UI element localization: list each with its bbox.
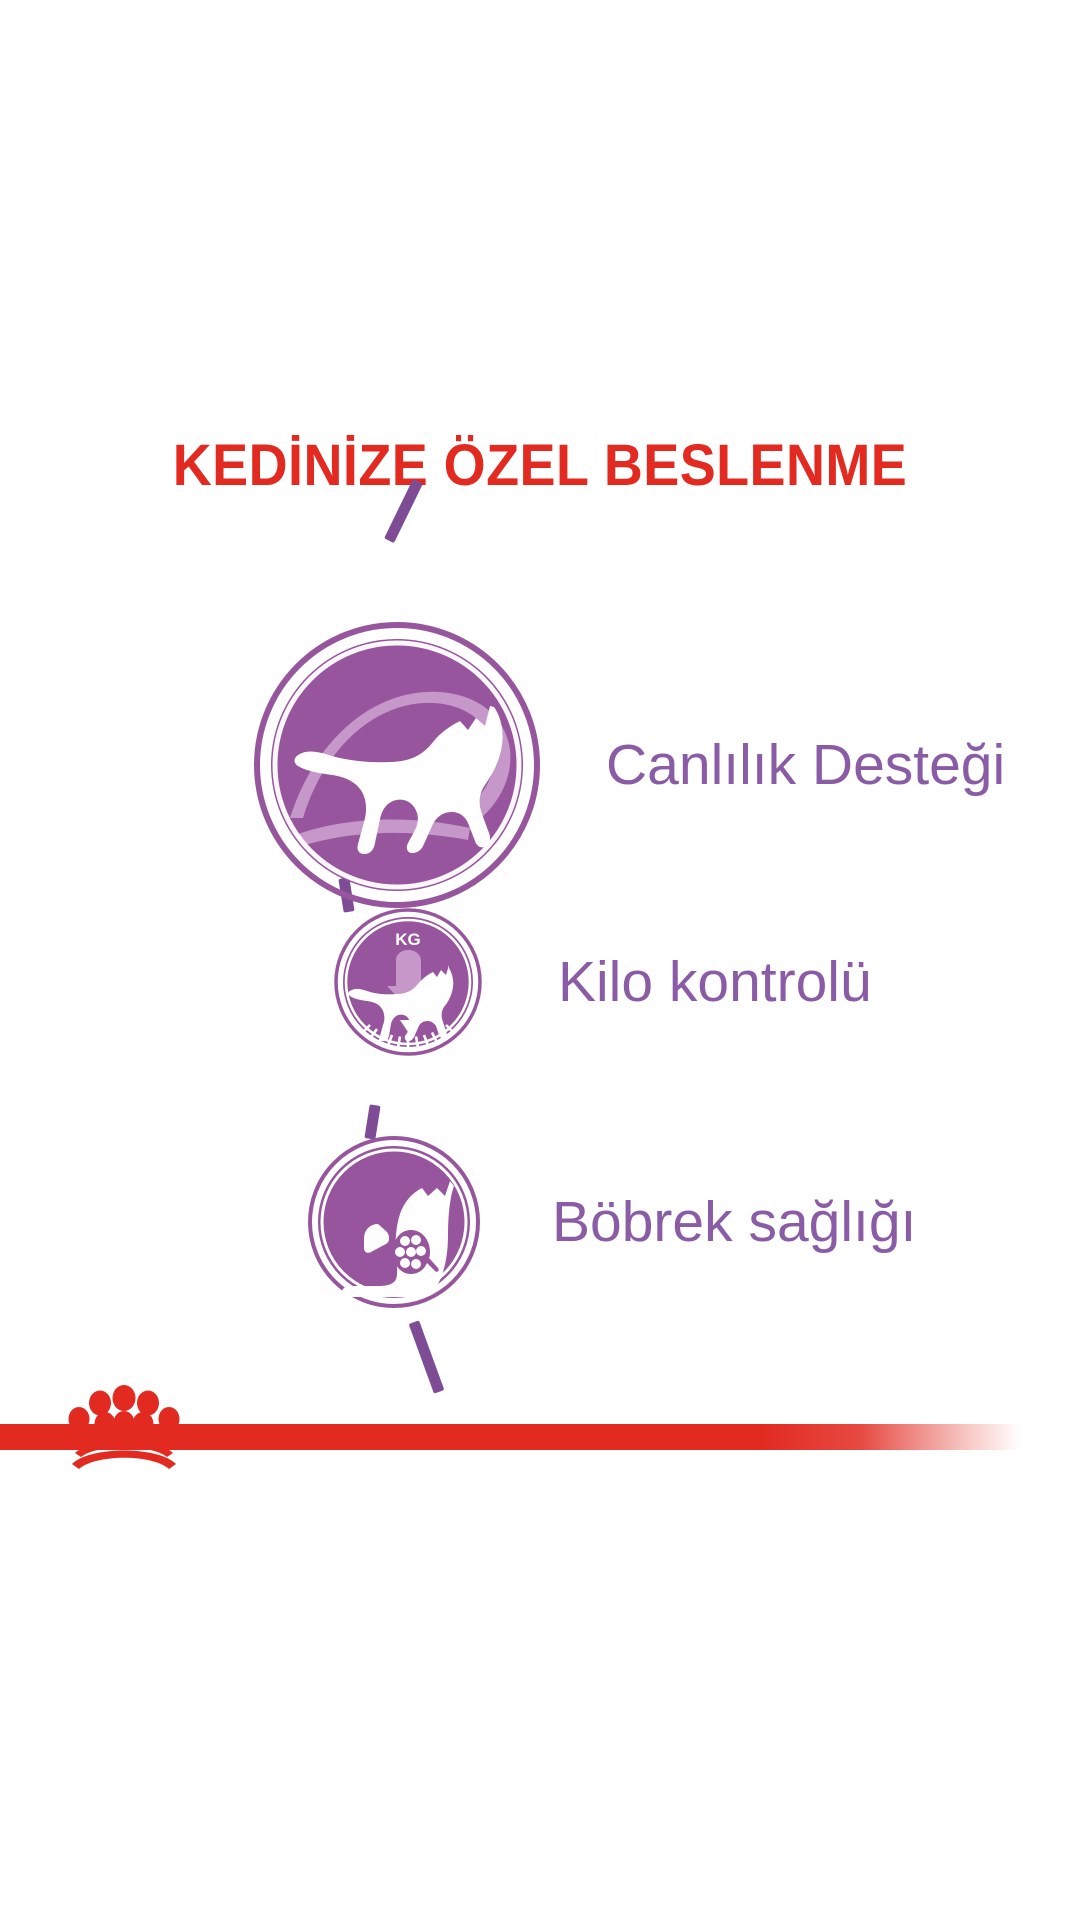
sitting-cat-kidney-icon (308, 1136, 480, 1308)
kg-unit-label: KG (395, 930, 421, 949)
feature-list: Canlılık Desteği KG (0, 0, 1080, 1920)
feature-item-weight: KG (334, 908, 872, 1056)
feature-label-vitality: Canlılık Desteği (606, 737, 1005, 794)
brand-band-left-segment (0, 1424, 68, 1450)
kidney-badge (308, 1136, 480, 1308)
feature-item-kidney: Böbrek sağlığı (308, 1136, 916, 1308)
royal-canin-crown-logo (62, 1376, 186, 1472)
connector-dash-weight-kidney (364, 1104, 380, 1139)
connector-dash-bottom (409, 1320, 445, 1393)
feature-item-vitality: Canlılık Desteği (254, 622, 1005, 908)
connector-dash-top (384, 479, 423, 543)
vitality-badge (254, 622, 540, 908)
poster-canvas: KEDİNİZE ÖZEL BESLENME (0, 0, 1080, 1920)
walking-cat-vitality-icon (254, 622, 540, 908)
cat-weight-scale-icon: KG (334, 908, 482, 1056)
weight-badge: KG (334, 908, 482, 1056)
crown-icon (62, 1376, 186, 1472)
feature-label-kidney: Böbrek sağlığı (552, 1194, 916, 1251)
feature-label-weight: Kilo kontrolü (558, 954, 872, 1011)
